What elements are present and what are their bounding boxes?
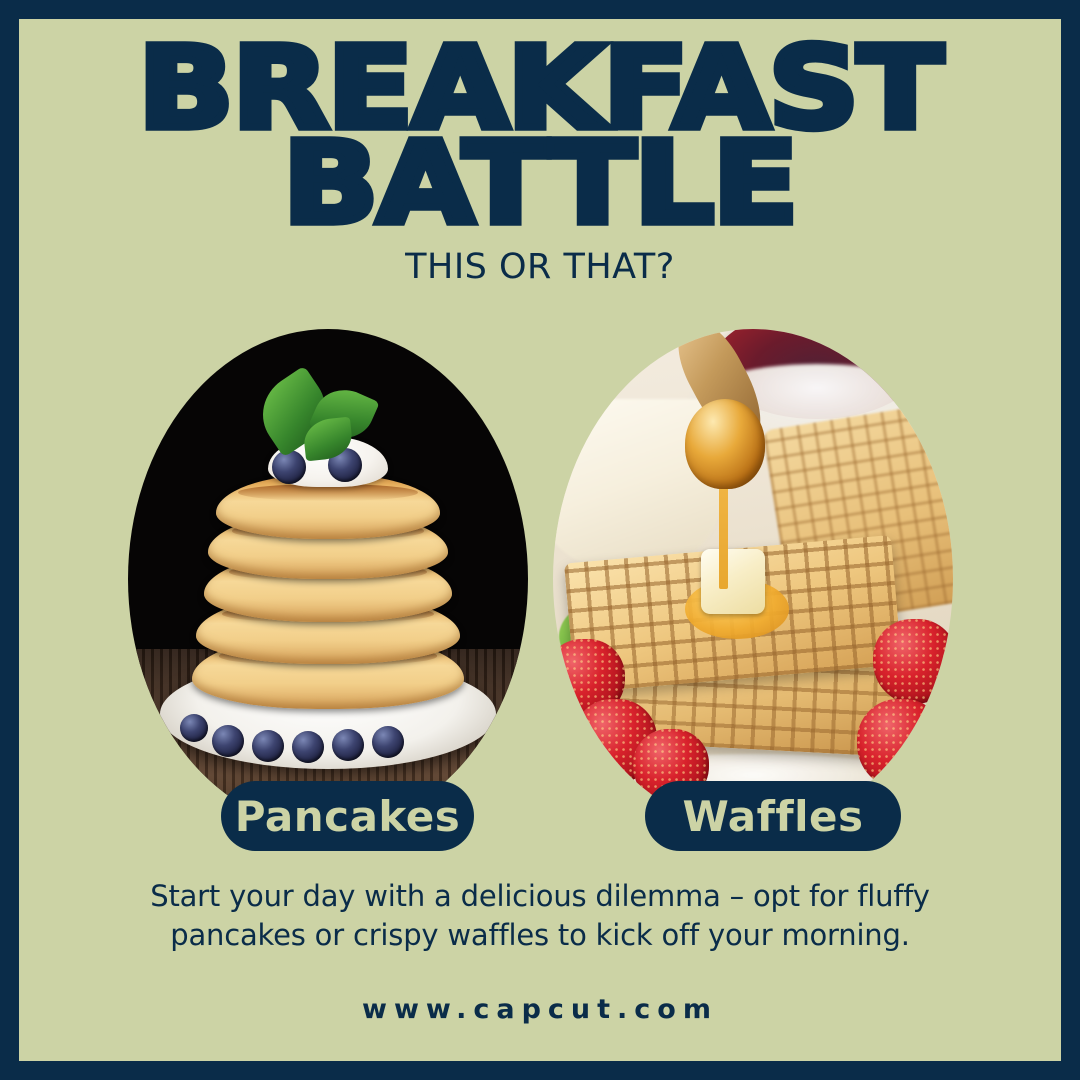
blueberry xyxy=(180,714,208,742)
option-image-pancakes[interactable] xyxy=(128,329,528,829)
title-line-2: BATTLE xyxy=(19,136,1061,230)
option-label-pancakes[interactable]: Pancakes xyxy=(221,781,474,851)
blueberry xyxy=(332,729,364,761)
strawberry xyxy=(873,619,953,704)
strawberry xyxy=(857,699,945,789)
blueberry xyxy=(252,730,284,762)
option-label-waffles[interactable]: Waffles xyxy=(645,781,901,851)
option-image-waffles[interactable] xyxy=(553,329,953,829)
description-text: Start your day with a delicious dilemma … xyxy=(139,877,941,954)
blueberry xyxy=(272,450,306,484)
waffle-photo xyxy=(553,329,953,829)
poster-frame: BREAKFAST BATTLE THIS OR THAT? xyxy=(0,0,1080,1080)
page-title: BREAKFAST BATTLE xyxy=(19,41,1061,225)
honey-dipper-head xyxy=(685,399,765,489)
pancake-photo xyxy=(128,329,528,829)
butter-pat xyxy=(701,549,765,614)
subtitle: THIS OR THAT? xyxy=(19,247,1061,287)
poster-canvas: BREAKFAST BATTLE THIS OR THAT? xyxy=(19,19,1061,1061)
blueberry xyxy=(212,725,244,757)
blueberry xyxy=(292,731,324,763)
honey-drip xyxy=(719,479,728,589)
blueberry xyxy=(372,726,404,758)
website-url[interactable]: www.capcut.com xyxy=(19,994,1061,1025)
